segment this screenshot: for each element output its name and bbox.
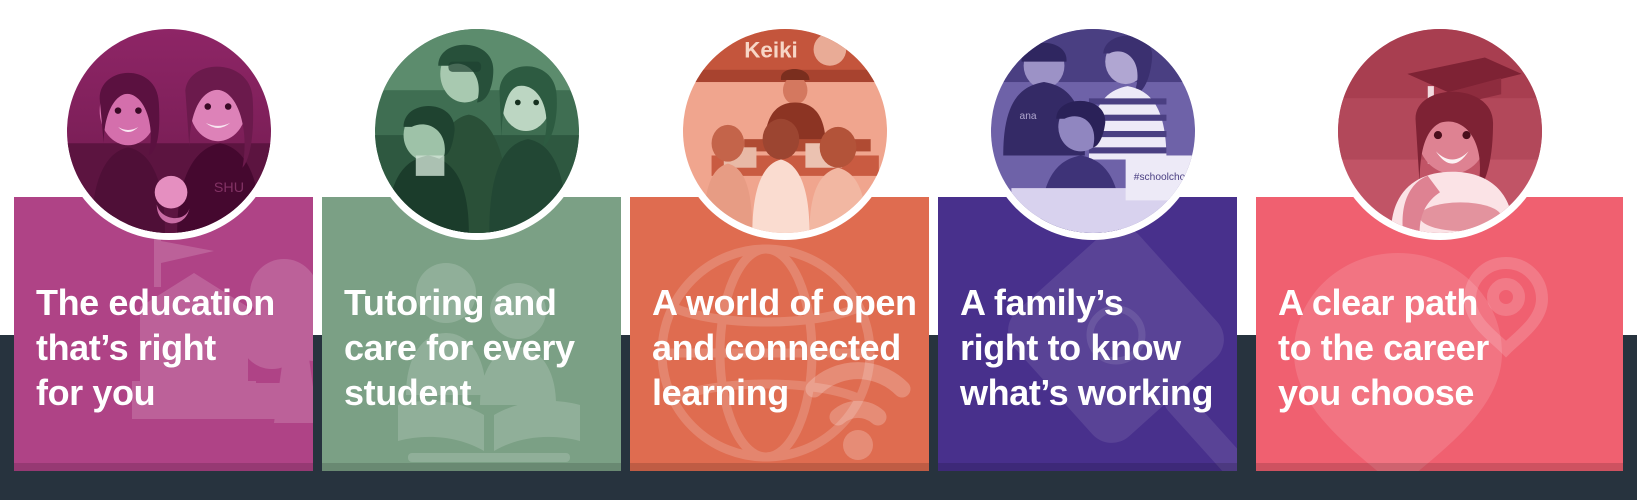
card-photo-education: SHU [60, 22, 278, 240]
card-title: Tutoring and care for every student [344, 280, 575, 415]
value-proposition-card-row: The education that’s right for you Tutor… [0, 0, 1637, 500]
card-bottom-shade [938, 463, 1237, 471]
svg-text:Keiki: Keiki [744, 38, 798, 63]
card-photo-connected-learning: Keiki [676, 22, 894, 240]
card-bottom-shade [14, 463, 313, 471]
card-bottom-shade [1256, 463, 1623, 471]
card-bottom-shade [322, 463, 621, 471]
card-bottom-shade [630, 463, 929, 471]
children-at-market-stand-photo: Keiki [683, 29, 887, 233]
card-photo-tutoring [368, 22, 586, 240]
card-photo-clear-path-career [1331, 22, 1549, 240]
svg-text:#schoolchoice: #schoolchoice [1134, 172, 1195, 183]
card-photo-family-right-to-know: ana #schoolchoice [984, 22, 1202, 240]
svg-text:ana: ana [1020, 111, 1037, 122]
card-title: The education that’s right for you [36, 280, 275, 415]
card-title: A clear path to the career you choose [1278, 280, 1489, 415]
girl-with-graduation-cap-photo [1338, 29, 1542, 233]
svg-text:SHU: SHU [214, 180, 244, 196]
card-title: A world of open and connected learning [652, 280, 917, 415]
card-title: A family’s right to know what’s working [960, 280, 1213, 415]
teacher-helping-children-photo [375, 29, 579, 233]
two-smiling-students-photo: SHU [67, 29, 271, 233]
family-at-schoolchoice-booth-photo: ana #schoolchoice [991, 29, 1195, 233]
